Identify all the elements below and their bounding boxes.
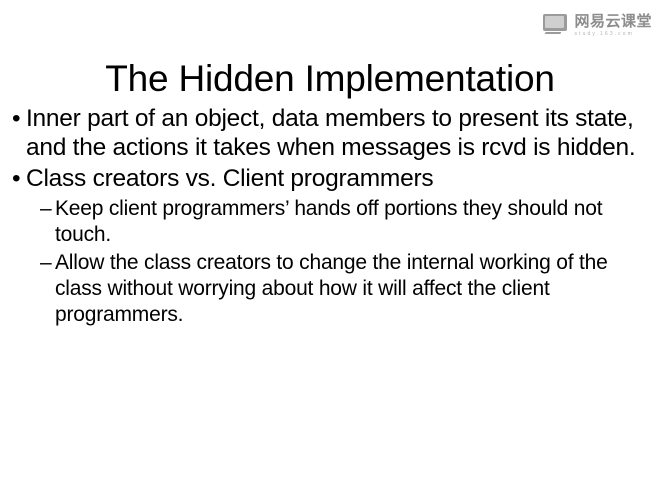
sub-bullet-item: – Keep client programmers’ hands off por…: [26, 196, 655, 248]
sub-bullet-text: Allow the class creators to change the i…: [55, 250, 655, 328]
bullet-list-level1: • Inner part of an object, data members …: [10, 104, 655, 328]
sub-bullet-marker-icon: –: [40, 250, 51, 276]
monitor-stand: [545, 32, 562, 34]
bullet-marker-icon: •: [12, 164, 20, 193]
presentation-slide: 网易云课堂 study.163.com The Hidden Implement…: [0, 0, 660, 495]
watermark-brand-name: 网易云课堂: [574, 14, 652, 29]
watermark-text-group: 网易云课堂 study.163.com: [574, 14, 652, 37]
slide-title: The Hidden Implementation: [0, 59, 660, 100]
bullet-item: • Class creators vs. Client programmers …: [10, 164, 655, 328]
bullet-list-level2: – Keep client programmers’ hands off por…: [26, 196, 655, 328]
monitor-icon: [543, 14, 569, 36]
monitor-screen: [543, 14, 567, 31]
watermark-brand-url: study.163.com: [574, 32, 652, 37]
bullet-text: Inner part of an object, data members to…: [26, 105, 635, 161]
bullet-marker-icon: •: [12, 104, 20, 133]
sub-bullet-text: Keep client programmers’ hands off porti…: [55, 196, 655, 248]
watermark-logo: 网易云课堂 study.163.com: [543, 14, 652, 37]
bullet-item: • Inner part of an object, data members …: [10, 104, 655, 162]
sub-bullet-item: – Allow the class creators to change the…: [26, 250, 655, 328]
slide-body: • Inner part of an object, data members …: [10, 104, 655, 330]
sub-bullet-marker-icon: –: [40, 196, 51, 222]
bullet-text: Class creators vs. Client programmers: [26, 165, 433, 192]
